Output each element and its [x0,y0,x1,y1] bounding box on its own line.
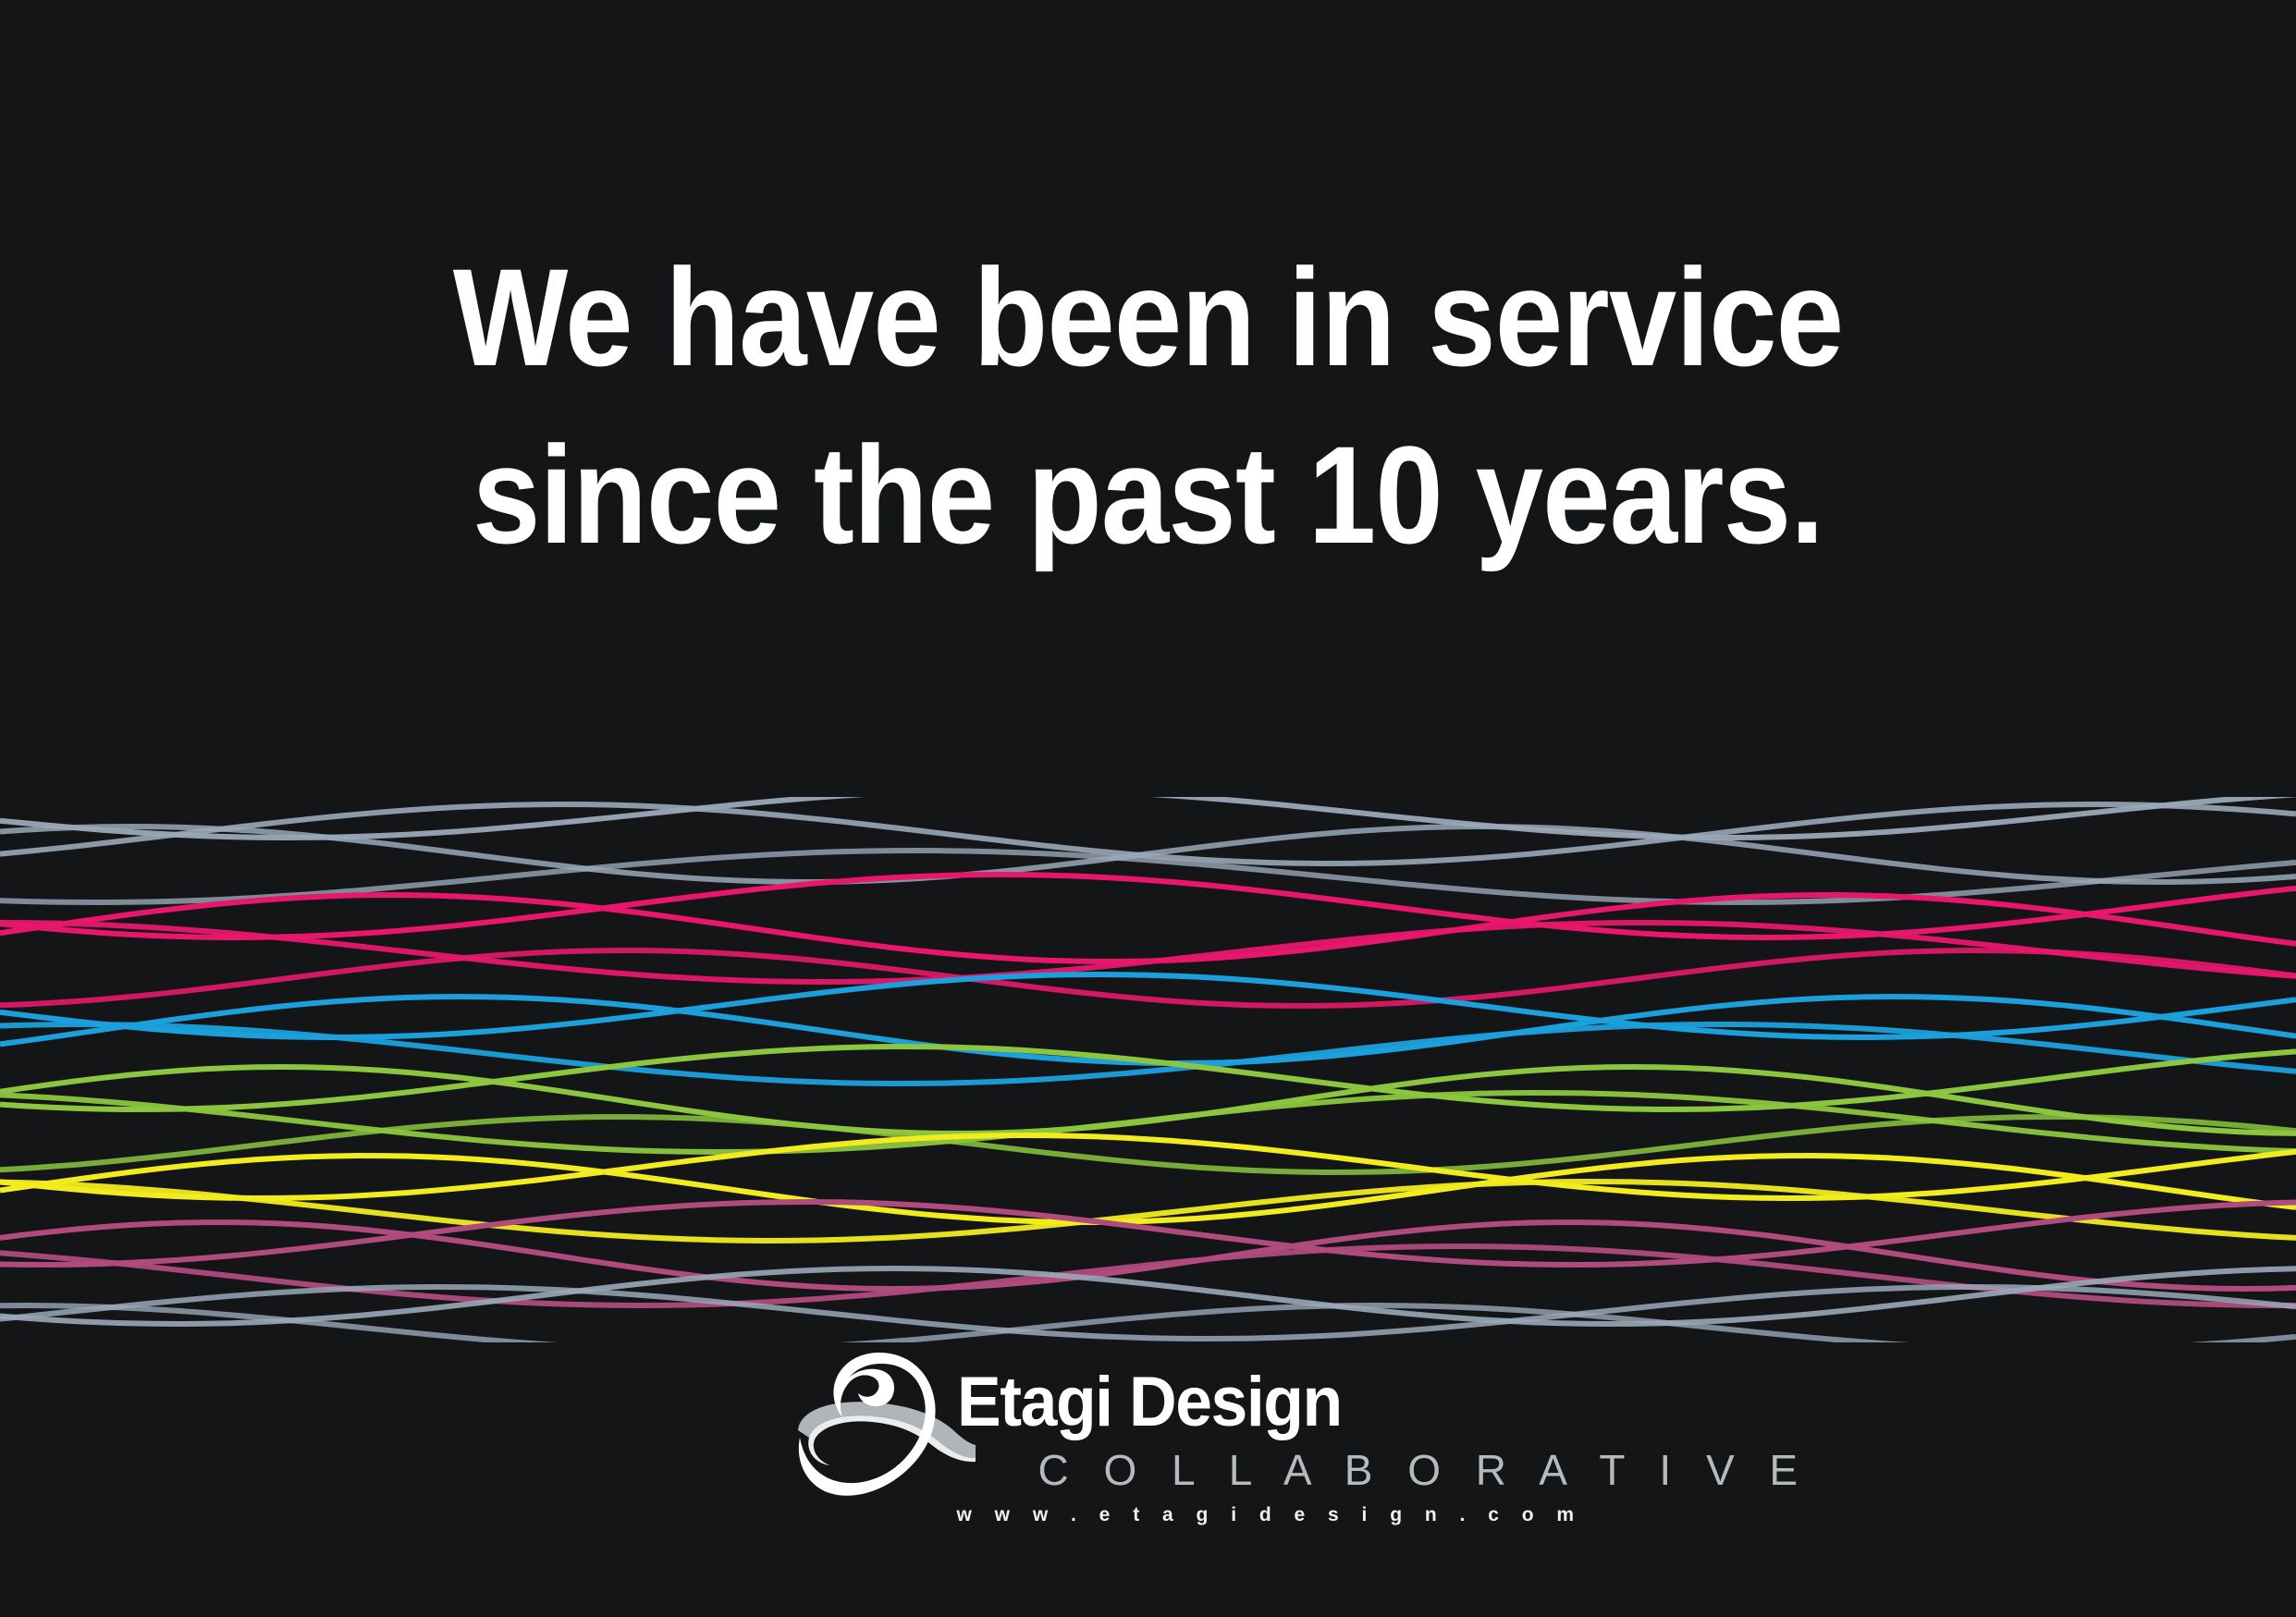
wave-line [0,1135,2296,1198]
logo-wordmark: Etagi Design C O L L A B O R A T I V E [957,1367,1530,1491]
wave-line [0,875,2296,937]
headline-line-1: We have been in service [138,248,2158,386]
website-url[interactable]: w w w . e t a g i d e s i g n . c o m [957,1504,1530,1526]
logo-lockup: Etagi Design C O L L A B O R A T I V E w… [0,1345,2296,1558]
wave-graphic [0,797,2296,1342]
logo-inner: Etagi Design C O L L A B O R A T I V E w… [765,1345,1532,1558]
wave-line [0,1024,2296,1084]
poster-canvas: We have been in service since the past 1… [0,0,2296,1617]
wave-line [0,997,2296,1063]
headline-line-2: since the past 10 years. [138,425,2158,564]
swirl-ribbon-svg [791,1345,976,1512]
wave-line [0,1287,2296,1339]
wave-line [0,974,2296,1037]
headline: We have been in service since the past 1… [0,248,2296,564]
company-name: Etagi Design [957,1367,1496,1438]
etagi-swirl-ribbon-mark-icon [791,1345,976,1512]
wave-lines-svg [0,797,2296,1342]
company-tagline: C O L L A B O R A T I V E [1038,1449,1530,1491]
